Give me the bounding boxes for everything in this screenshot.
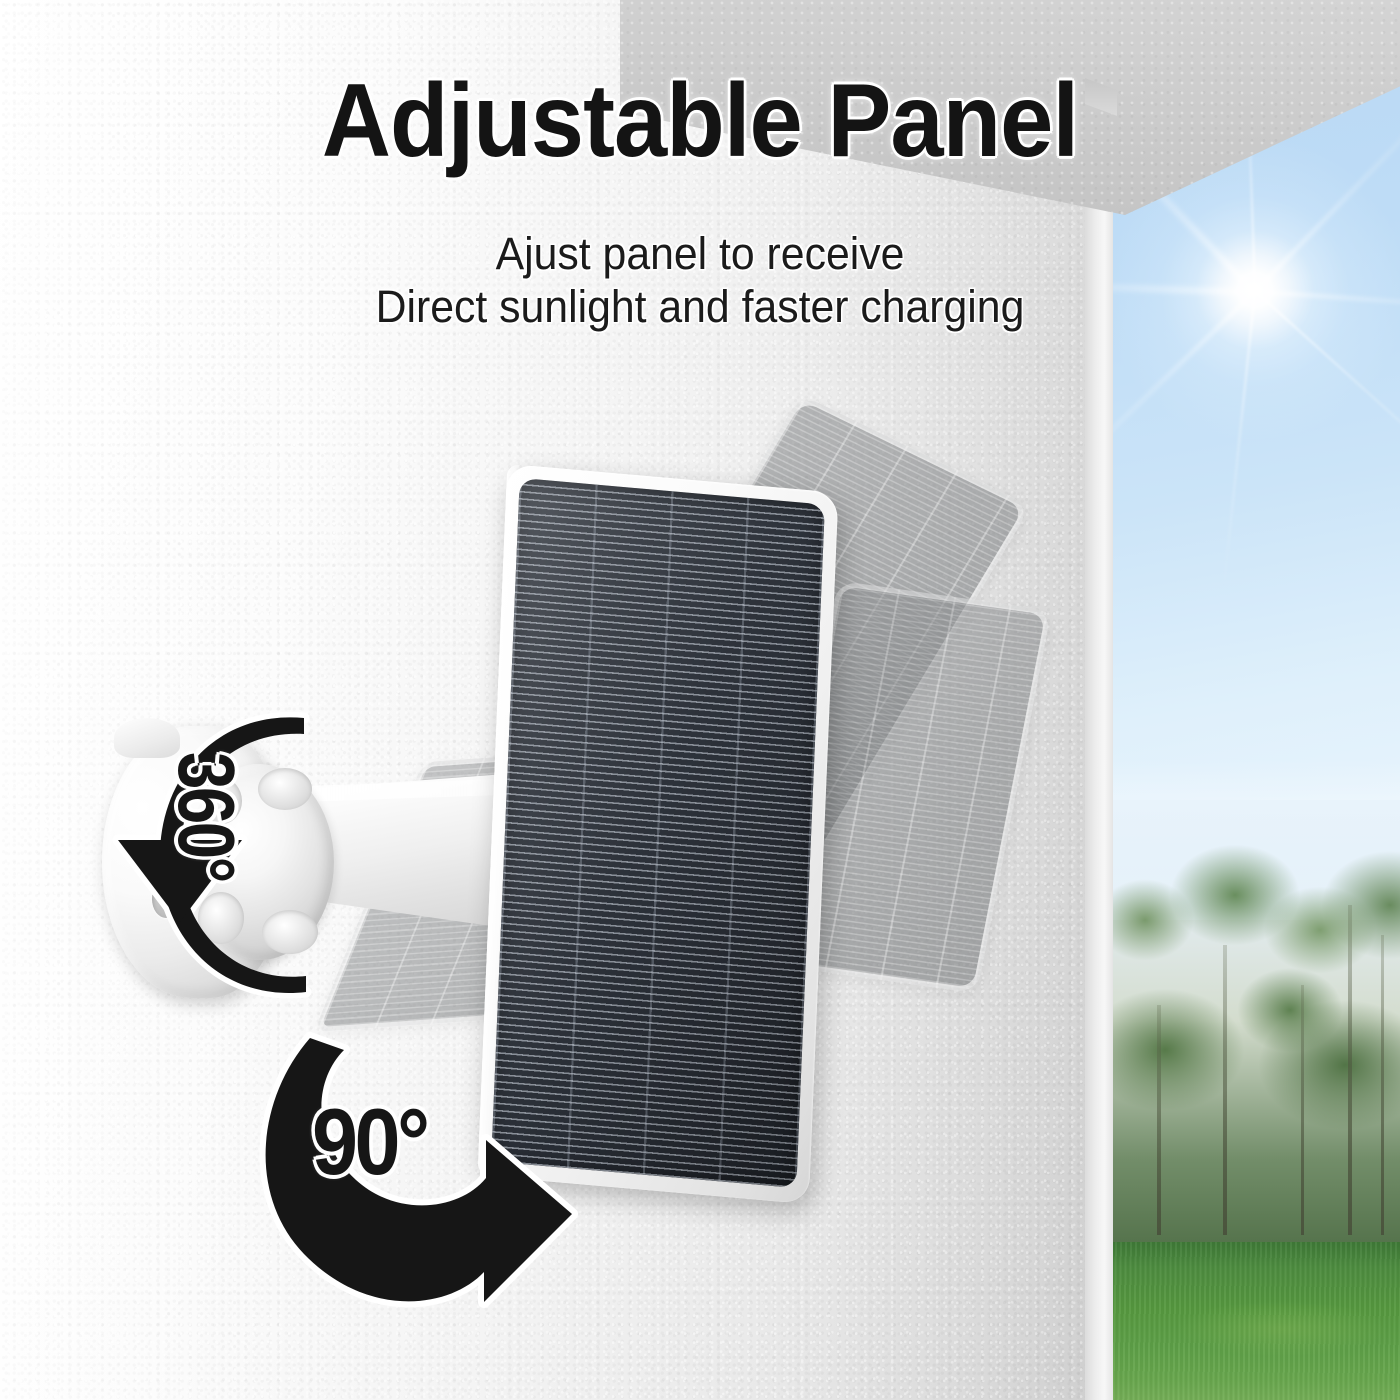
subtitle-line-2: Direct sunlight and faster charging <box>35 281 1365 334</box>
product-marketing-image: Adjustable Panel Ajust panel to receive … <box>0 0 1400 1400</box>
rotation-360-label: 360° <box>160 752 252 881</box>
tree-trunk <box>1223 945 1227 1235</box>
tree-trunk <box>1381 935 1384 1235</box>
tree-trunk <box>1157 1005 1161 1235</box>
subtitle-line-1: Ajust panel to receive <box>35 228 1365 281</box>
subtitle: Ajust panel to receive Direct sunlight a… <box>35 228 1365 333</box>
tree-trunk <box>1348 905 1352 1235</box>
outdoor-scene <box>1105 0 1400 1400</box>
grass-lawn <box>1105 1242 1400 1400</box>
tree-foliage <box>1105 800 1400 1260</box>
page-title: Adjustable Panel <box>56 62 1344 181</box>
tree-trunk <box>1301 985 1304 1235</box>
rotation-90-label: 90° <box>312 1088 427 1196</box>
tree-line <box>1105 800 1400 1260</box>
